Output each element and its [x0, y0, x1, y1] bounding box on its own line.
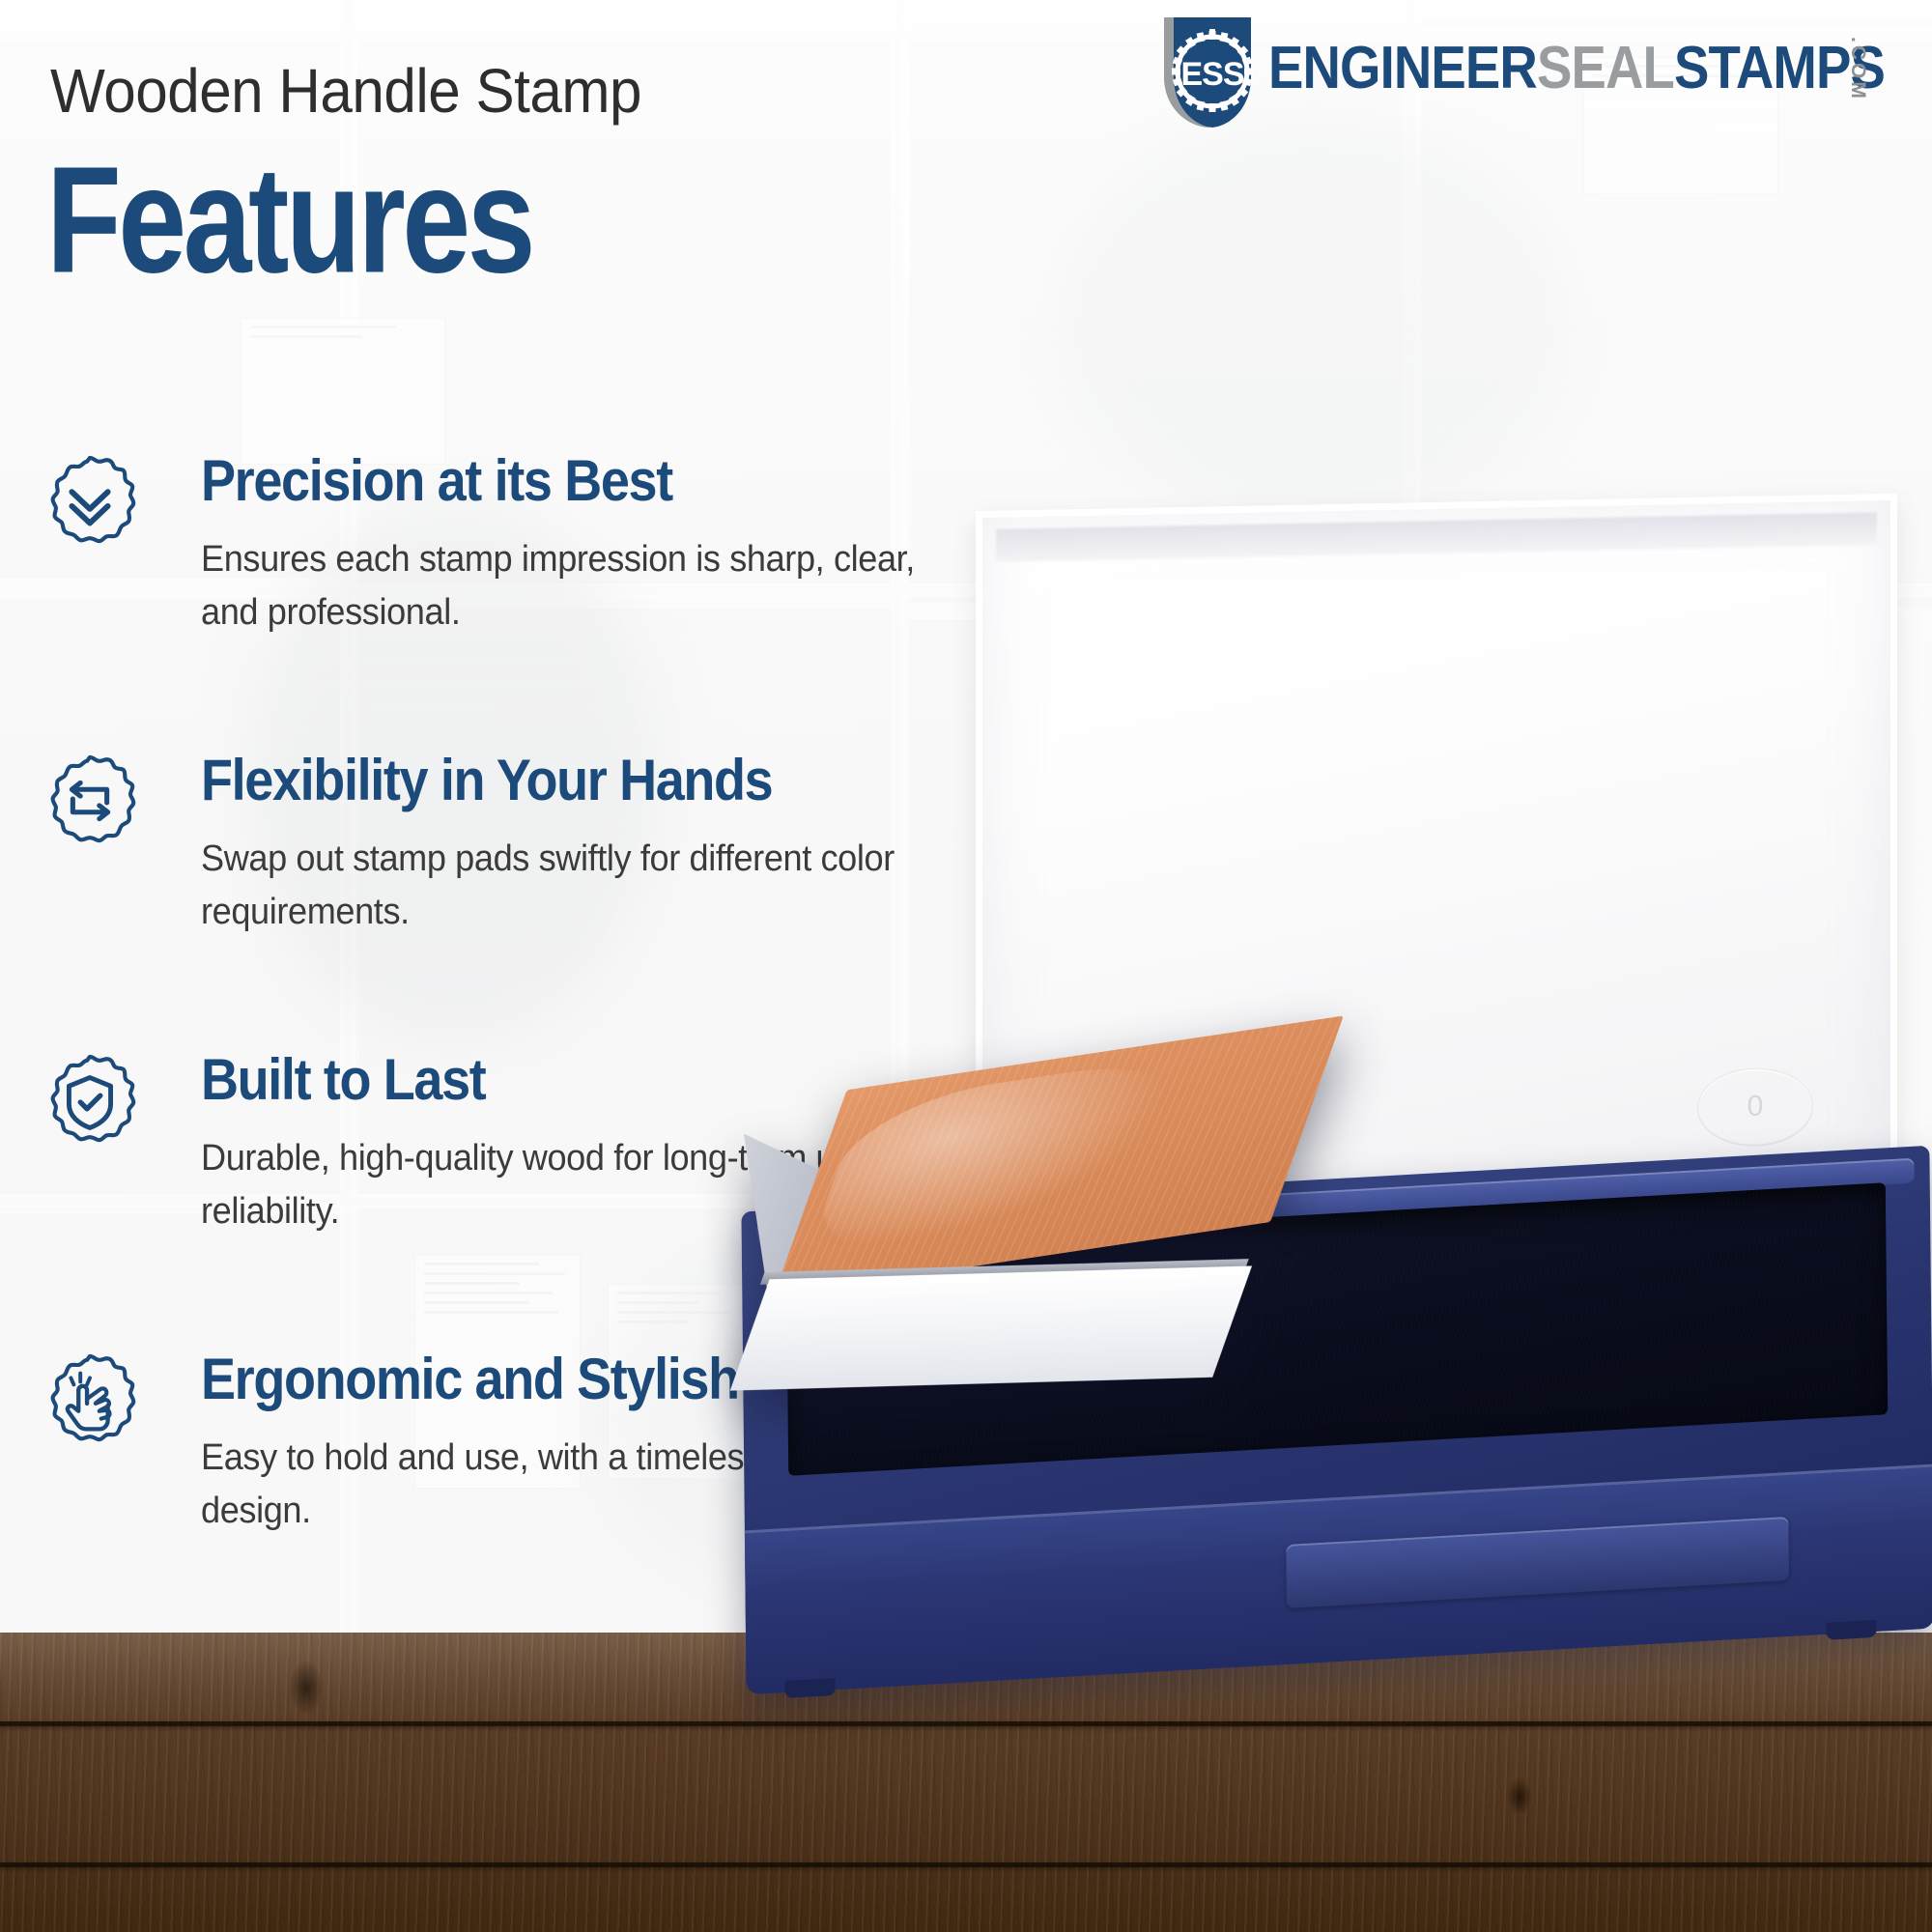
ess-logo[interactable]: ESS ENGINEERSEALSTAMPS .COM — [1145, 8, 1908, 133]
feature-heading: Flexibility in Your Hands — [201, 750, 772, 810]
shield-check-badge-icon — [43, 1053, 137, 1148]
feature-body: Ensures each stamp impression is sharp, … — [201, 533, 963, 639]
tap-hand-badge-icon — [43, 1352, 137, 1447]
box-foot — [1826, 1620, 1876, 1640]
wordmark-seal: SEAL — [1537, 35, 1674, 101]
feature-item: Flexibility in Your Hands Swap out stamp… — [0, 736, 1024, 1036]
lid-emboss-mark: 0 — [1697, 1067, 1813, 1147]
feature-heading: Ergonomic and Stylish — [201, 1349, 739, 1409]
ess-wordmark: ENGINEERSEALSTAMPS — [1268, 39, 1885, 99]
product-photo: 0 — [947, 502, 1932, 1642]
stamp-white-side — [730, 1266, 1252, 1391]
page-kicker: Wooden Handle Stamp — [50, 60, 641, 122]
feature-body: Swap out stamp pads swiftly for differen… — [201, 833, 963, 939]
feature-heading: Precision at its Best — [201, 450, 672, 511]
feature-heading: Built to Last — [201, 1049, 485, 1110]
swap-arrows-badge-icon — [43, 753, 137, 848]
svg-text:ESS: ESS — [1180, 56, 1243, 93]
lid-inner-shadow — [996, 512, 1877, 562]
wordmark-dotcom: .COM — [1846, 37, 1869, 101]
chevron-double-down-badge-icon — [43, 454, 137, 549]
infographic-canvas: Wooden Handle Stamp Features — [0, 0, 1932, 1932]
wordmark-engineer: ENGINEER — [1268, 35, 1537, 101]
ess-shield-gear-icon: ESS — [1145, 14, 1263, 131]
feature-item: Precision at its Best Ensures each stamp… — [0, 437, 1024, 736]
box-foot — [785, 1678, 836, 1698]
lid-emboss-label: 0 — [1747, 1091, 1764, 1123]
page-title: Features — [46, 145, 532, 297]
